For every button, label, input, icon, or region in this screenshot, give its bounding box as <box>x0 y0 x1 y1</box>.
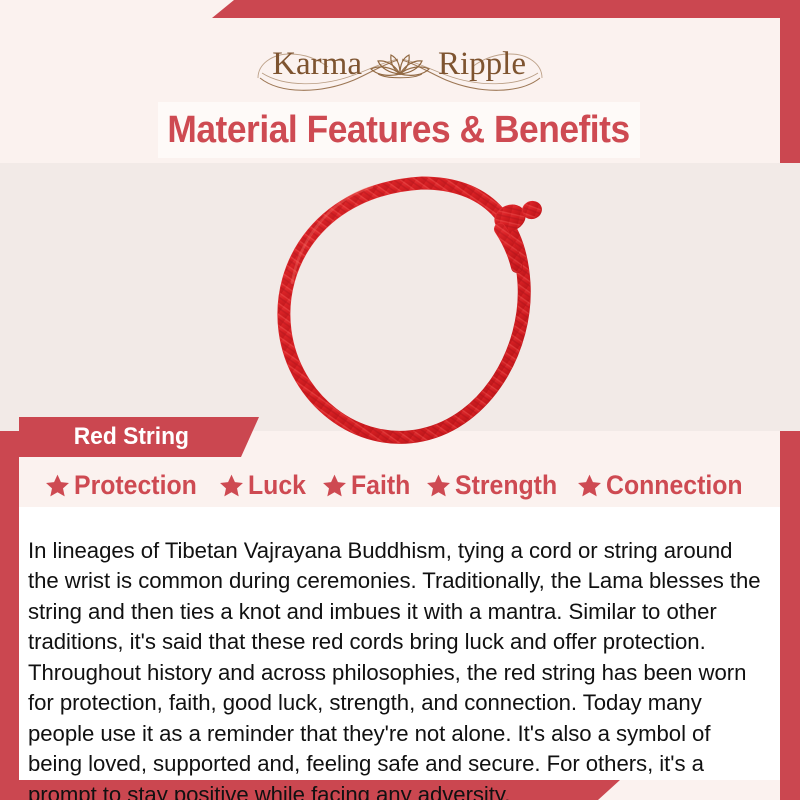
lotus-icon <box>371 55 429 78</box>
star-icon <box>45 473 70 498</box>
page-title-band: Material Features & Benefits <box>158 102 640 158</box>
karma-ripple-logo-mark: Karma Ripple <box>250 34 550 96</box>
benefit-label: Faith <box>351 470 410 501</box>
product-image-bracelet <box>252 163 592 463</box>
benefit-item-strength: Strength <box>426 470 566 501</box>
infographic-page: Karma Ripple Material Features & Benefit… <box>0 0 800 800</box>
description-panel: In lineages of Tibetan Vajrayana Buddhis… <box>19 507 780 780</box>
frame-accent-top <box>212 0 800 18</box>
brand-name-right: Ripple <box>438 46 526 82</box>
star-icon <box>219 473 244 498</box>
benefit-item-faith: Faith <box>322 470 416 501</box>
material-label: Red String <box>23 423 189 451</box>
benefit-item-protection: Protection <box>45 470 208 501</box>
description-text: In lineages of Tibetan Vajrayana Buddhis… <box>28 536 765 800</box>
star-icon <box>322 473 347 498</box>
benefit-label: Connection <box>606 470 743 501</box>
benefits-list: Protection Luck Faith <box>19 464 781 506</box>
brand-name-left: Karma <box>272 46 362 82</box>
star-icon <box>577 473 602 498</box>
benefit-item-luck: Luck <box>219 470 311 501</box>
benefit-label: Protection <box>74 470 197 501</box>
material-label-band: Red String <box>19 417 259 457</box>
page-title: Material Features & Benefits <box>168 109 630 152</box>
benefit-label: Strength <box>455 470 557 501</box>
benefit-item-connection: Connection <box>577 470 755 501</box>
benefit-label: Luck <box>248 470 306 501</box>
brand-logo: Karma Ripple <box>0 34 800 96</box>
star-icon <box>426 473 451 498</box>
